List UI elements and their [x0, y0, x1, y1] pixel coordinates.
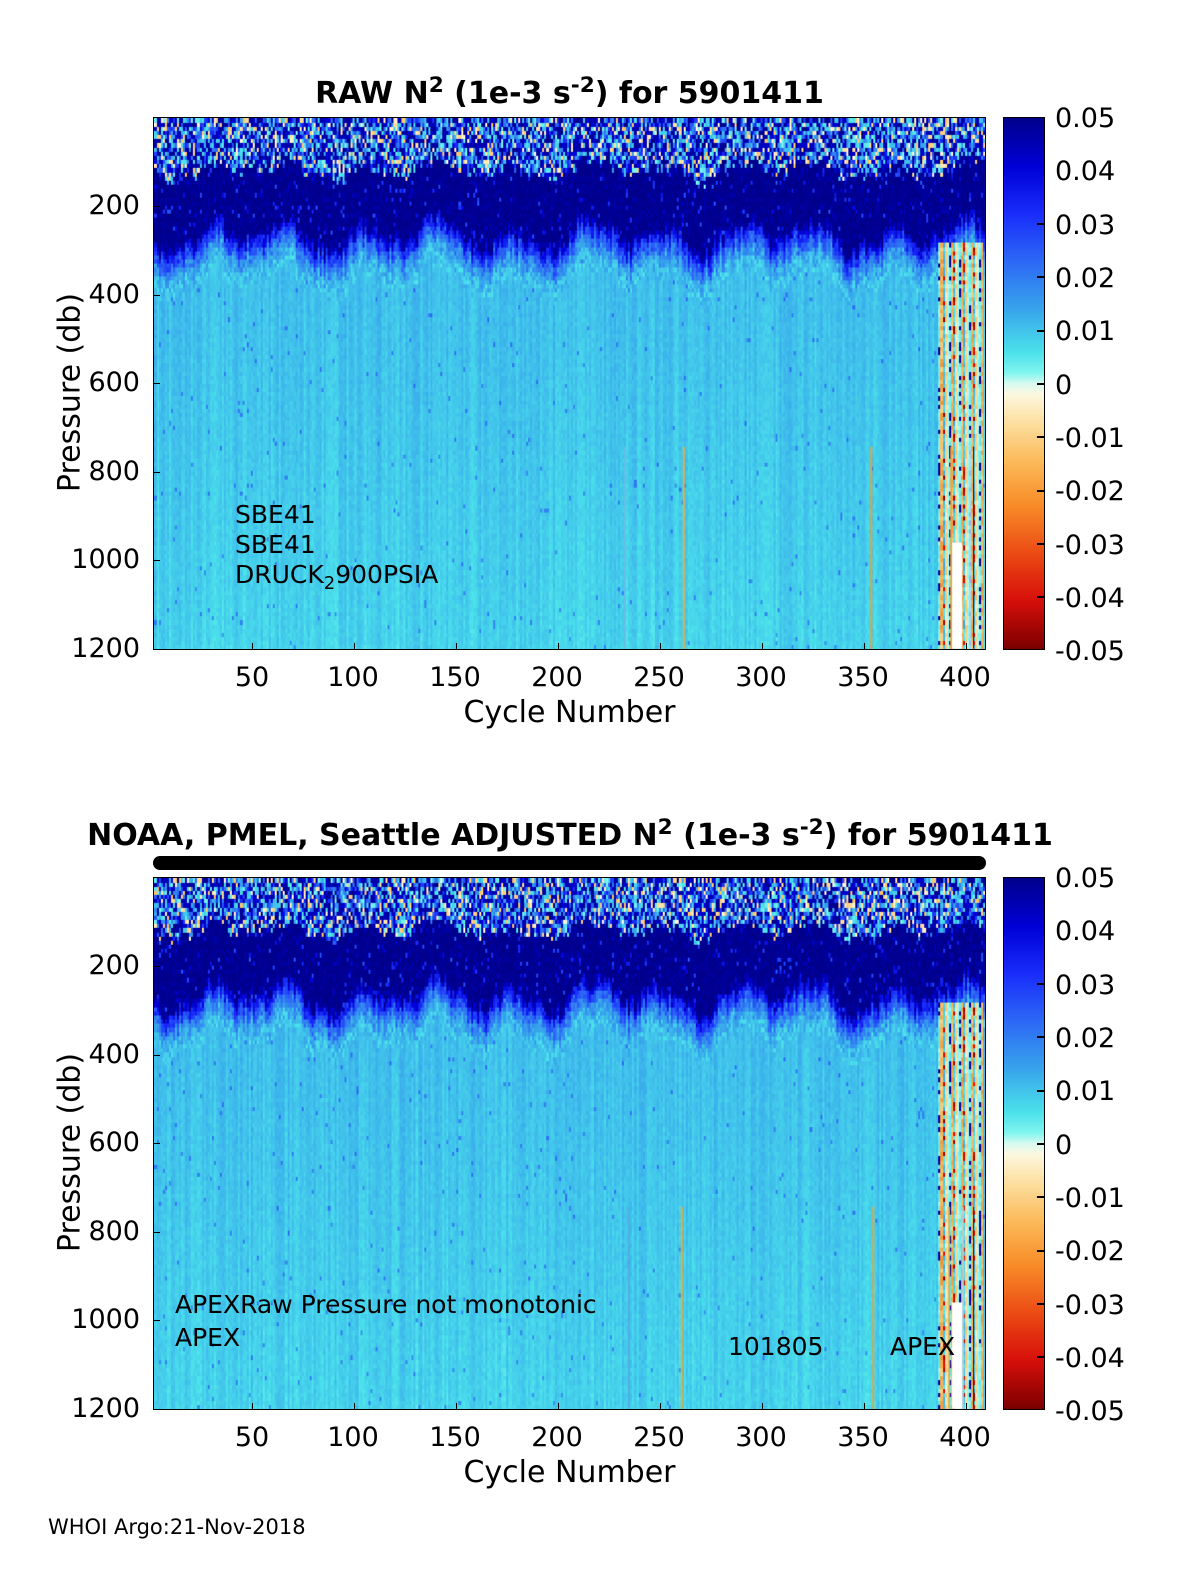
adjusted-heatmap-axes[interactable]: [153, 877, 986, 1410]
adj-ytickmark-600: [153, 1143, 160, 1144]
adj-xtick-400: 400: [925, 1422, 1005, 1453]
adjusted-cycle-marker-bar: [153, 856, 986, 870]
raw-cbtick-0: 0: [1055, 370, 1072, 401]
raw-ytickmark-1000: [153, 560, 160, 561]
raw-cbtickmark-0.02: [1037, 276, 1045, 278]
raw-cbtick-0.03: 0.03: [1055, 210, 1115, 241]
adj-ytickmark-200: [153, 966, 160, 967]
raw-cbtickmark-0: [1037, 383, 1045, 385]
raw-cbtick--0.01: -0.01: [1055, 423, 1125, 454]
adj-cbtickmark-0.01: [1037, 1090, 1045, 1092]
adj-xtick-150: 150: [415, 1422, 495, 1453]
figure-footer: WHOI Argo:21-Nov-2018: [48, 1515, 306, 1539]
panel-adjusted: NOAA, PMEL, Seattle ADJUSTED N2 (1e-3 s-…: [0, 760, 1200, 1520]
raw-cbtickmark-0.01: [1037, 330, 1045, 332]
raw-xtick-150: 150: [415, 662, 495, 693]
adj-cbtick-0.04: 0.04: [1055, 916, 1115, 947]
raw-ytickmark-800: [153, 472, 160, 473]
adj-xtickmark-150: [456, 1403, 457, 1410]
adj-cbtick--0.03: -0.03: [1055, 1290, 1125, 1321]
adjusted-x-axis-label: Cycle Number: [153, 1455, 986, 1490]
adj-title-prefix: NOAA, PMEL, Seattle ADJUSTED N: [87, 818, 658, 853]
adj-cbtickmark-0.03: [1037, 983, 1045, 985]
adj-cbtick--0.05: -0.05: [1055, 1396, 1125, 1427]
adj-xtickmark-400: [966, 1403, 967, 1410]
raw-ytick-200: 200: [35, 190, 140, 221]
adjusted-x-axis-label-text: Cycle Number: [463, 1455, 675, 1490]
raw-cbtickmark--0.01: [1037, 436, 1045, 438]
adj-title-suffix: ) for 5901411: [824, 818, 1053, 853]
raw-cbtick--0.04: -0.04: [1055, 583, 1125, 614]
adj-cbtickmark-0.02: [1037, 1036, 1045, 1038]
raw-ytick-1200: 1200: [35, 633, 140, 664]
raw-cbtick-0.01: 0.01: [1055, 316, 1115, 347]
raw-cbtickmark-0.03: [1037, 223, 1045, 225]
adjusted-annotation-not-monotonic: APEXRaw Pressure not monotonic: [175, 1290, 597, 1319]
raw-ytick-800: 800: [35, 456, 140, 487]
raw-xtick-350: 350: [823, 662, 903, 693]
adj-cbtick--0.02: -0.02: [1055, 1236, 1125, 1267]
adjusted-heatmap-canvas: [154, 878, 985, 1409]
adj-xtickmark-200: [558, 1403, 559, 1410]
adj-ytick-800: 800: [35, 1216, 140, 1247]
adj-ytick-1000: 1000: [35, 1304, 140, 1335]
adj-ytick-400: 400: [35, 1039, 140, 1070]
adjusted-annotation-platform-right: APEX: [890, 1332, 955, 1361]
adj-xtickmark-250: [660, 1403, 661, 1410]
raw-xtickmark-400: [966, 643, 967, 650]
adj-cbtick-0.01: 0.01: [1055, 1076, 1115, 1107]
raw-cbtick--0.05: -0.05: [1055, 636, 1125, 667]
adj-cbtickmark--0.04: [1037, 1356, 1045, 1358]
raw-cbtick--0.02: -0.02: [1055, 476, 1125, 507]
adj-ytickmark-1000: [153, 1320, 160, 1321]
raw-xtick-400: 400: [925, 662, 1005, 693]
raw-ytickmark-600: [153, 383, 160, 384]
raw-title-exponent: 2: [429, 73, 444, 98]
raw-xtickmark-350: [864, 643, 865, 650]
adj-xtick-350: 350: [823, 1422, 903, 1453]
raw-cbtick-0.04: 0.04: [1055, 156, 1115, 187]
adj-ytickmark-400: [153, 1055, 160, 1056]
raw-ytick-1000: 1000: [35, 544, 140, 575]
adjusted-annotation-platform: APEX: [175, 1323, 240, 1352]
raw-ytickmark-400: [153, 295, 160, 296]
raw-title-suffix: ) for 5901411: [595, 76, 824, 111]
raw-xtick-200: 200: [517, 662, 597, 693]
raw-xtickmark-50: [252, 643, 253, 650]
raw-xtickmark-300: [762, 643, 763, 650]
adj-cbtick-0.05: 0.05: [1055, 863, 1115, 894]
adj-xtick-50: 50: [212, 1422, 292, 1453]
adj-cbtickmark--0.02: [1037, 1250, 1045, 1252]
adj-xtickmark-100: [354, 1403, 355, 1410]
adj-title-exponent: 2: [658, 815, 673, 840]
adj-title-mid: (1e-3 s: [673, 818, 800, 853]
raw-annotation-pressure-sensor: DRUCK2900PSIA: [235, 560, 438, 589]
raw-x-axis-label-text: Cycle Number: [463, 695, 675, 730]
adj-xtick-300: 300: [721, 1422, 801, 1453]
adj-cbtick-0: 0: [1055, 1130, 1072, 1161]
raw-xtick-250: 250: [619, 662, 699, 693]
raw-annotation-druck-sub: 2: [324, 573, 335, 594]
raw-ytickmark-200: [153, 206, 160, 207]
raw-cbtickmark--0.04: [1037, 596, 1045, 598]
adjusted-annotation-wmo-date: 101805: [728, 1332, 823, 1361]
adj-xtick-200: 200: [517, 1422, 597, 1453]
raw-ytick-600: 600: [35, 367, 140, 398]
raw-xtickmark-250: [660, 643, 661, 650]
adj-cbtickmark-0: [1037, 1143, 1045, 1145]
adj-ytick-600: 600: [35, 1127, 140, 1158]
adj-cbtickmark--0.01: [1037, 1196, 1045, 1198]
adj-cbtick-0.02: 0.02: [1055, 1023, 1115, 1054]
raw-x-axis-label: Cycle Number: [153, 695, 986, 730]
adj-title-exponent2: -2: [800, 815, 824, 840]
adj-xtickmark-300: [762, 1403, 763, 1410]
raw-cbtickmark--0.03: [1037, 543, 1045, 545]
adj-cbtickmark--0.03: [1037, 1303, 1045, 1305]
raw-title-prefix: RAW N: [315, 76, 429, 111]
adjusted-plot-title: NOAA, PMEL, Seattle ADJUSTED N2 (1e-3 s-…: [60, 818, 1080, 853]
adj-cbtick-0.03: 0.03: [1055, 970, 1115, 1001]
raw-xtickmark-150: [456, 643, 457, 650]
raw-annotation-sensor-2: SBE41: [235, 530, 316, 559]
raw-xtick-50: 50: [212, 662, 292, 693]
adj-xtickmark-50: [252, 1403, 253, 1410]
adj-xtick-100: 100: [313, 1422, 393, 1453]
adj-ytick-1200: 1200: [35, 1393, 140, 1424]
raw-xtickmark-100: [354, 643, 355, 650]
raw-annotation-druck-text2: 900PSIA: [335, 560, 438, 589]
raw-plot-title: RAW N2 (1e-3 s-2) for 5901411: [153, 76, 986, 111]
adj-cbtick--0.01: -0.01: [1055, 1183, 1125, 1214]
raw-ytick-400: 400: [35, 279, 140, 310]
raw-xtick-100: 100: [313, 662, 393, 693]
panel-raw: RAW N2 (1e-3 s-2) for 5901411 Pressure (…: [0, 0, 1200, 760]
adj-cbtick--0.04: -0.04: [1055, 1343, 1125, 1374]
raw-cbtick-0.02: 0.02: [1055, 263, 1115, 294]
raw-annotation-sensor-1: SBE41: [235, 500, 316, 529]
raw-title-exponent2: -2: [571, 73, 595, 98]
adj-ytickmark-800: [153, 1232, 160, 1233]
raw-xtick-300: 300: [721, 662, 801, 693]
raw-annotation-druck-text: DRUCK: [235, 560, 324, 589]
adj-xtickmark-350: [864, 1403, 865, 1410]
raw-title-mid: (1e-3 s: [444, 76, 571, 111]
raw-xtickmark-200: [558, 643, 559, 650]
raw-cbtick--0.03: -0.03: [1055, 530, 1125, 561]
adj-xtick-250: 250: [619, 1422, 699, 1453]
raw-cbtickmark--0.02: [1037, 490, 1045, 492]
raw-cbtick-0.05: 0.05: [1055, 103, 1115, 134]
adj-ytick-200: 200: [35, 950, 140, 981]
